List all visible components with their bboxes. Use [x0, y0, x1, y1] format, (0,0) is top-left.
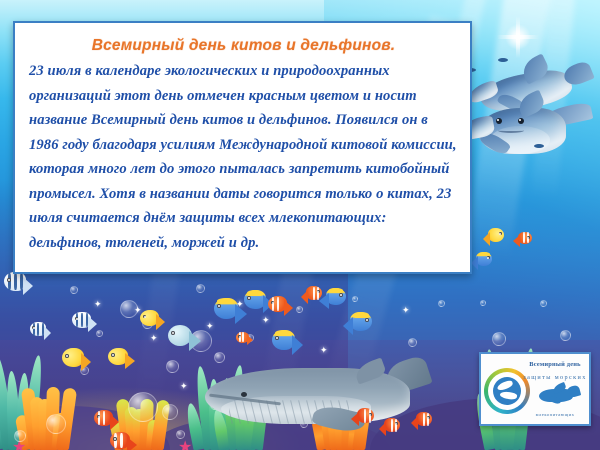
fish-body [488, 228, 504, 242]
fish-tail [110, 414, 119, 430]
fish-eye [217, 304, 221, 308]
fish-tail [247, 335, 253, 345]
blue-tang-3 [272, 330, 304, 350]
fish-eye [395, 422, 398, 425]
fish-stripe [37, 323, 39, 336]
fish-eye [365, 318, 369, 322]
bubble-icon [352, 296, 358, 302]
fish-eye [527, 236, 530, 239]
bubble-icon [166, 360, 179, 373]
fish-stripe [317, 287, 319, 300]
sun-glint-icon [505, 24, 531, 50]
dolphin-eye [496, 118, 502, 124]
blue-tang-1 [214, 298, 248, 319]
fish-eye [7, 278, 11, 282]
fish-stripe [120, 433, 123, 448]
blue-tang-7 [470, 252, 492, 266]
sparkle-icon: ✦ [180, 382, 188, 391]
fish-eye [369, 413, 372, 416]
clownfish-floor-1 [94, 410, 120, 426]
fish-stripe [423, 413, 425, 426]
fish-tail [301, 290, 308, 304]
bubble-icon [96, 330, 103, 337]
bubble-icon [162, 404, 178, 420]
fish-stripe [395, 419, 397, 432]
fish-stripe [33, 323, 35, 336]
fish-tail [81, 353, 91, 371]
fish-tail [379, 422, 386, 436]
fish-stripe [98, 411, 100, 425]
fish-eye [317, 290, 320, 293]
background-fish [534, 144, 544, 148]
logo-dolphin-icon [539, 384, 579, 406]
yellow-tang-3 [108, 348, 136, 365]
fish-tail [471, 256, 478, 270]
bubble-icon [46, 414, 66, 434]
dolphin-smile [498, 128, 524, 133]
body-text: 23 июля в календаре экологических и прир… [29, 59, 458, 255]
fish-stripe [277, 297, 279, 311]
fish-eye [275, 336, 279, 340]
bubble-icon [70, 286, 78, 294]
sparkle-icon: ✦ [94, 300, 102, 309]
yellow-tang-2 [62, 348, 92, 367]
clownfish-upper [512, 232, 532, 244]
text-panel: Всемирный день китов и дельфинов. 23 июл… [13, 21, 472, 274]
fish-eye [65, 354, 69, 358]
event-logo[interactable]: Всемирный день защиты морских млекопитаю… [479, 352, 591, 426]
starfish-right-icon: ★ [178, 440, 192, 450]
fish-eye [271, 301, 274, 304]
clownfish-floor-2 [110, 432, 138, 449]
fish-tail [44, 326, 51, 340]
fish-eye [111, 353, 115, 357]
bubble-icon [128, 392, 158, 422]
emblem-dolphin-icon [496, 380, 513, 392]
fish-stripe [364, 409, 366, 423]
fish-tail [411, 416, 418, 430]
fish-tail [189, 331, 201, 351]
yellow-tang-1 [140, 310, 166, 326]
fish-tail [127, 437, 137, 450]
logo-line-1: Всемирный день [522, 361, 588, 368]
fish-stripe [86, 313, 88, 327]
clownfish-right [300, 286, 322, 300]
fish-tail [351, 412, 359, 426]
sparkle-icon: ✦ [206, 322, 214, 331]
emblem-core [493, 377, 521, 405]
fish-stripe [14, 273, 17, 290]
fish-eye [427, 416, 430, 419]
sparkle-icon: ✦ [402, 306, 410, 315]
fish-eye [75, 317, 78, 320]
fish-tail [125, 353, 135, 369]
fish-stripe [427, 413, 429, 426]
fish-stripe [76, 313, 78, 327]
pufferfish [168, 325, 202, 346]
dolphin-eye [518, 118, 524, 124]
fish-stripe [391, 419, 393, 432]
bubble-icon [296, 306, 303, 313]
fish-eye [143, 315, 146, 318]
fish-eye [113, 437, 117, 441]
whale-eye [241, 392, 247, 397]
bubble-icon [176, 430, 185, 439]
bubble-icon [480, 300, 486, 306]
fish-stripe [42, 323, 44, 336]
sparkle-icon: ✦ [262, 316, 270, 325]
fish-eye [487, 256, 490, 259]
dolphin-pair [472, 52, 600, 192]
bubble-icon [438, 300, 445, 307]
clownfish-floor-5 [410, 412, 432, 426]
blue-tang-5 [342, 312, 372, 331]
fish-stripe [242, 332, 244, 342]
fish-stripe [103, 411, 105, 425]
fish-stripe [272, 297, 274, 311]
fish-tail [284, 300, 293, 316]
fish-eye [97, 415, 100, 418]
fish-eye [499, 232, 502, 235]
fish-eye [247, 296, 251, 300]
fish-stripe [313, 287, 315, 300]
bubble-icon [540, 300, 547, 307]
background-fish [498, 58, 508, 62]
sparkle-icon: ✦ [150, 334, 158, 343]
fish-stripe [523, 232, 525, 243]
clownfish-big [268, 296, 294, 312]
fish-tail [292, 335, 303, 355]
blue-tang-4 [318, 288, 346, 305]
yellow-tang-4 [482, 228, 504, 242]
bubble-icon [492, 332, 506, 346]
fish-eye [339, 293, 343, 297]
logo-line-2: защиты морских [522, 374, 588, 381]
logo-line-3: млекопитающих [522, 412, 588, 417]
clownfish-floor-4 [378, 418, 400, 432]
bubble-icon [408, 338, 417, 347]
bubble-icon [14, 430, 26, 442]
bubble-icon [196, 284, 205, 293]
clownfish-floor-3 [350, 408, 374, 423]
page-title: Всемирный день китов и дельфинов. [29, 37, 458, 55]
fish-stripe [81, 313, 83, 327]
angelfish-striped-1 [4, 272, 34, 291]
clownfish-mid [236, 332, 254, 343]
fish-stripe [369, 409, 371, 423]
slide-canvas: ★★ ✦✦✦✦✦✦✦✦✦✦✦✦ [0, 0, 600, 450]
fish-eye [32, 326, 35, 329]
fish-tail [513, 235, 520, 247]
fish-stripe [20, 273, 23, 290]
fish-tail [88, 316, 97, 332]
fish-tail [156, 314, 165, 330]
fish-tail [343, 317, 353, 335]
fish-eye [171, 331, 175, 335]
fish-eye [238, 335, 241, 338]
emblem-dolphin-icon [499, 390, 517, 400]
angelfish-striped-2 [72, 312, 98, 328]
fish-tail [483, 232, 490, 246]
fish-tail [23, 277, 33, 295]
bubble-icon [560, 330, 571, 341]
angelfish-striped-3 [30, 322, 52, 336]
